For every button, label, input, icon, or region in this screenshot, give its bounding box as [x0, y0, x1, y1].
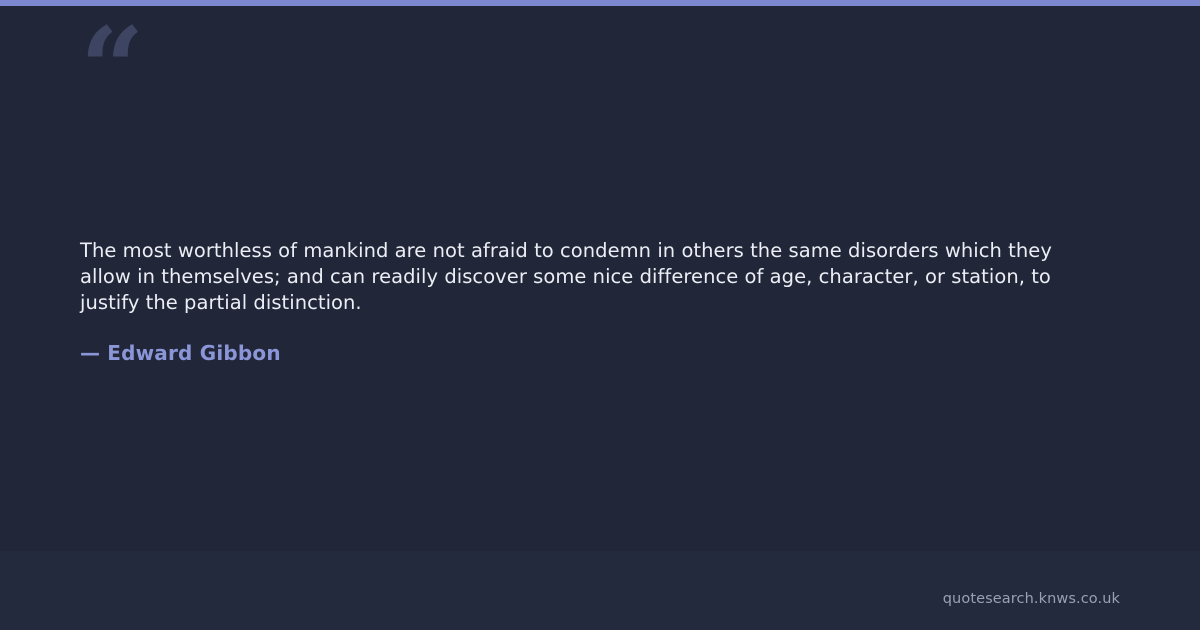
- quote-text: The most worthless of mankind are not af…: [80, 238, 1088, 316]
- quote-author: —Edward Gibbon: [80, 340, 281, 366]
- quote-card: “ The most worthless of mankind are not …: [0, 0, 1200, 630]
- quote-body: The most worthless of mankind are not af…: [80, 238, 1088, 316]
- author-name: Edward Gibbon: [107, 341, 281, 365]
- open-quote-icon: “: [80, 14, 142, 126]
- author-dash: —: [80, 340, 100, 366]
- top-accent-bar: [0, 0, 1200, 6]
- site-url-label: quotesearch.knws.co.uk: [943, 590, 1120, 608]
